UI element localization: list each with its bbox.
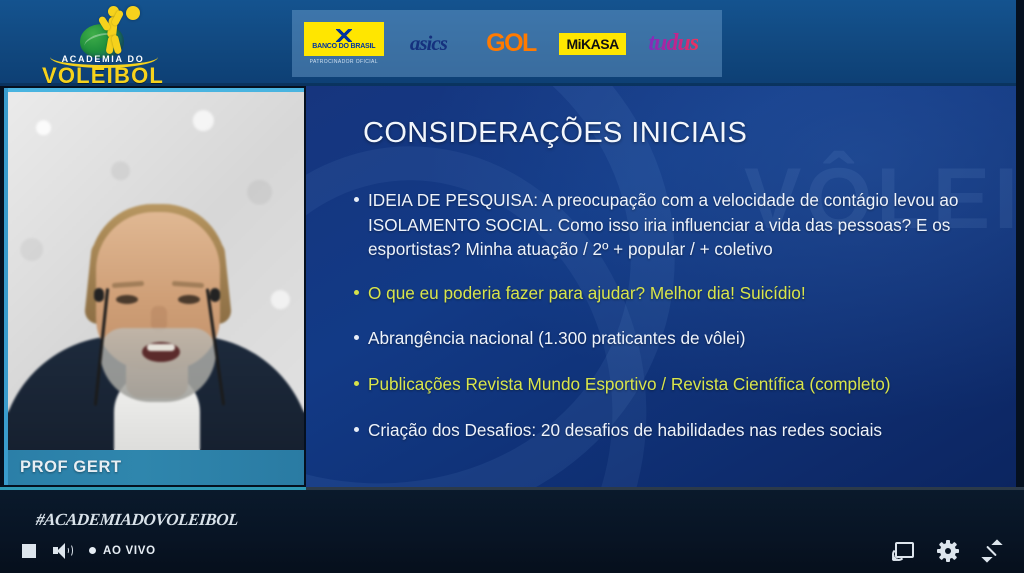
earphone-bud-left-icon: [94, 288, 104, 302]
speaker-webcam-tile: PROF GERT: [4, 88, 304, 485]
sponsor-label: MiKASA: [566, 36, 618, 52]
logo-player-figure-icon: [98, 6, 128, 54]
logo-volleyball-icon: [126, 6, 140, 20]
live-label: AO VIVO: [103, 545, 156, 557]
settings-button[interactable]: [938, 541, 958, 561]
player-control-bar: #ACADEMIADOVOLEIBOL AO VIVO: [0, 487, 1024, 573]
sponsor-gol: GOL: [471, 29, 551, 58]
webcam-video-feed: [8, 92, 304, 450]
sponsor-asics: asics: [386, 31, 472, 56]
sponsor-mikasa: MiKASA: [551, 33, 635, 55]
slide-title: CONSIDERAÇÕES INICIAIS: [363, 117, 747, 150]
cast-button[interactable]: [892, 542, 914, 561]
live-indicator[interactable]: AO VIVO: [89, 545, 156, 557]
slide-bullet-item: Criação dos Desafios: 20 desafios de hab…: [354, 418, 986, 443]
right-edge-margin: [1016, 0, 1024, 487]
bullet-text: O que eu poderia fazer para ajudar? Melh…: [368, 281, 806, 306]
playback-progress-fill: [0, 487, 306, 490]
banco-do-brasil-mark-icon: [336, 29, 352, 42]
sponsor-sublabel: PATROCINADOR OFICIAL: [310, 59, 378, 65]
speaker-eye-left: [116, 295, 138, 304]
bullet-text: IDEIA DE PESQUISA: A preocupação com a v…: [368, 188, 986, 262]
earphone-bud-right-icon: [210, 288, 220, 302]
speaker-name-bar: PROF GERT: [8, 450, 304, 485]
slide-bullet-item: O que eu poderia fazer para ajudar? Melh…: [354, 281, 986, 306]
logo-text-main: VOLEIBOL: [38, 63, 168, 89]
player-right-controls: [892, 541, 1002, 561]
academia-do-voleibol-logo: ACADEMIA DO VOLEIBOL: [38, 2, 168, 84]
speaker-eye-right: [178, 295, 200, 304]
gear-icon: [938, 541, 958, 561]
slide-bullet-item: Abrangência nacional (1.300 praticantes …: [354, 326, 986, 351]
volume-icon: [53, 542, 72, 559]
sponsor-label: GOL: [486, 29, 536, 58]
sponsor-label: asics: [410, 31, 447, 56]
slide-bullet-item: Publicações Revista Mundo Esportivo / Re…: [354, 372, 986, 397]
speaker-mouth: [142, 342, 180, 362]
bullet-dot-icon: [354, 381, 359, 386]
bullet-dot-icon: [354, 427, 359, 432]
playback-progress-bar[interactable]: [0, 487, 1024, 490]
channel-hashtag: #ACADEMIADOVOLEIBOL: [35, 510, 239, 530]
bullet-text: Publicações Revista Mundo Esportivo / Re…: [368, 372, 891, 397]
sponsor-banco-do-brasil: BANCO DO BRASIL PATROCINADOR OFICIAL: [302, 22, 386, 65]
cast-icon: [892, 542, 914, 561]
fullscreen-button[interactable]: [982, 541, 1002, 561]
stop-icon: [22, 544, 36, 558]
sponsor-label: tudus: [648, 30, 698, 57]
sponsor-header-band: ACADEMIA DO VOLEIBOL BANCO DO BRASIL PAT…: [0, 0, 1016, 86]
webcam-top-accent-border: [4, 88, 304, 92]
sponsor-logo-strip: BANCO DO BRASIL PATROCINADOR OFICIAL asi…: [292, 10, 722, 77]
bullet-dot-icon: [354, 290, 359, 295]
sponsor-label: BANCO DO BRASIL: [312, 43, 375, 50]
bullet-dot-icon: [354, 335, 359, 340]
live-stream-player: ACADEMIA DO VOLEIBOL BANCO DO BRASIL PAT…: [0, 0, 1024, 573]
fullscreen-icon: [982, 541, 1002, 561]
slide-bullet-item: IDEIA DE PESQUISA: A preocupação com a v…: [354, 188, 986, 262]
speaker-name: PROF GERT: [20, 458, 122, 477]
sponsor-tudus: tudus: [634, 30, 712, 57]
webcam-left-accent-border: [4, 88, 8, 485]
slide-bullet-list: IDEIA DE PESQUISA: A preocupação com a v…: [354, 188, 986, 458]
stop-button[interactable]: [22, 544, 36, 558]
bullet-text: Abrangência nacional (1.300 praticantes …: [368, 326, 745, 351]
live-dot-icon: [89, 547, 96, 554]
bullet-text: Criação dos Desafios: 20 desafios de hab…: [368, 418, 882, 443]
bullet-dot-icon: [354, 197, 359, 202]
player-left-controls: AO VIVO: [22, 542, 156, 559]
volume-button[interactable]: [53, 542, 72, 559]
presentation-slide: VÔLEI CONSIDERAÇÕES INICIAIS IDEIA DE PE…: [306, 86, 1016, 487]
